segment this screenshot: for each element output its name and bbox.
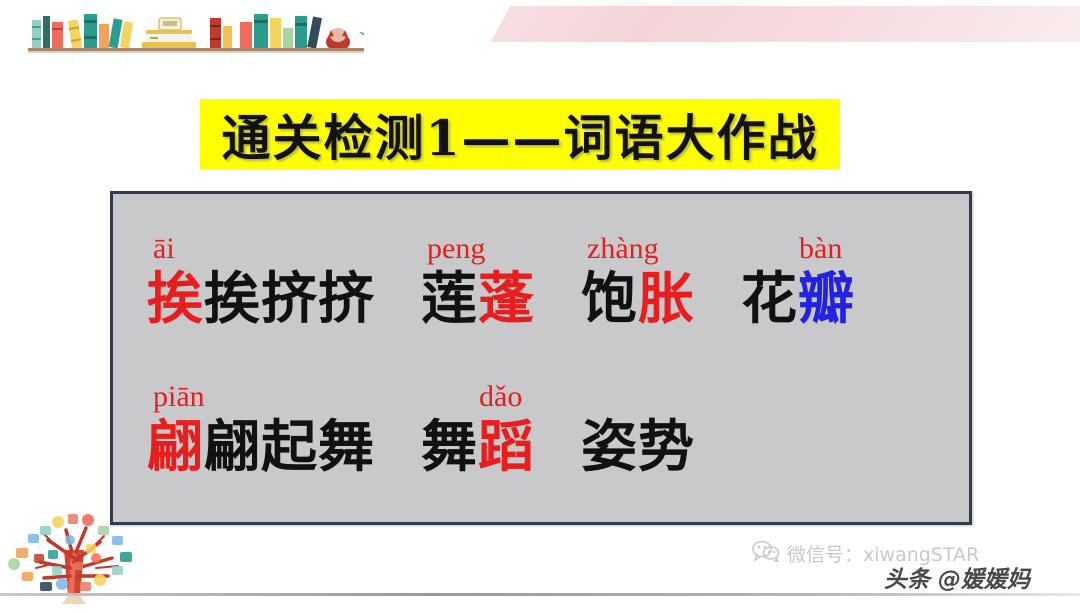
pink-band-decoration [491, 6, 1080, 42]
word-group[interactable]: āi 挨挨挤挤 [147, 233, 375, 331]
word-group[interactable]: bàn 花瓣 [741, 233, 855, 331]
word-group[interactable]: 姿势 [581, 381, 695, 479]
word-characters: 姿势 [581, 417, 695, 479]
word-characters: 花瓣 [741, 269, 855, 331]
char: 蓬 [478, 266, 535, 332]
char: 花 [741, 266, 798, 332]
pinyin-label: peng [421, 233, 485, 269]
char: 挤 [261, 266, 318, 332]
word-group[interactable]: dǎo 舞蹈 [421, 381, 535, 479]
pinyin-label: āi [147, 233, 175, 269]
char: 饱 [581, 266, 638, 332]
bookshelf-illustration [14, 8, 364, 54]
toutiao-watermark: 头条 @媛媛妈 [884, 560, 1030, 594]
pinyin-label: dǎo [421, 381, 522, 417]
page-title: 通关检测1——词语大作战 [221, 99, 818, 170]
char: 姿 [581, 414, 638, 480]
char: 翩 [147, 414, 204, 480]
word-characters: 莲蓬 [421, 269, 535, 331]
word-rows-container: āi 挨挨挤挤 peng 莲蓬 zhàng 饱胀 bàn [113, 194, 969, 522]
char: 挨 [204, 266, 261, 332]
char: 起 [261, 414, 318, 480]
pinyin-label: zhàng [581, 233, 659, 269]
word-row: piān 翩翩起舞 dǎo 舞蹈 姿势 [147, 381, 943, 479]
bottom-divider [0, 593, 1080, 596]
char: 势 [638, 414, 695, 480]
char: 挨 [147, 266, 204, 332]
word-characters: 挨挨挤挤 [147, 269, 375, 331]
word-group[interactable]: piān 翩翩起舞 [147, 381, 375, 479]
word-characters: 翩翩起舞 [147, 417, 375, 479]
char: 胀 [638, 266, 695, 332]
word-characters: 舞蹈 [421, 417, 535, 479]
word-characters: 饱胀 [581, 269, 695, 331]
pencil-tree-illustration [0, 496, 150, 608]
word-row: āi 挨挨挤挤 peng 莲蓬 zhàng 饱胀 bàn [147, 233, 943, 331]
char: 蹈 [478, 414, 535, 480]
word-group[interactable]: peng 莲蓬 [421, 233, 535, 331]
char: 莲 [421, 266, 478, 332]
page-title-banner: 通关检测1——词语大作战 [200, 99, 840, 169]
char: 舞 [318, 414, 375, 480]
char: 瓣 [798, 266, 855, 332]
char: 翩 [204, 414, 261, 480]
char: 舞 [421, 414, 478, 480]
wechat-icon [752, 540, 780, 567]
pinyin-label: bàn [741, 233, 842, 269]
word-list-panel: āi 挨挨挤挤 peng 莲蓬 zhàng 饱胀 bàn [110, 191, 972, 525]
pinyin-label: piān [147, 381, 205, 417]
char: 挤 [318, 266, 375, 332]
word-group[interactable]: zhàng 饱胀 [581, 233, 695, 331]
